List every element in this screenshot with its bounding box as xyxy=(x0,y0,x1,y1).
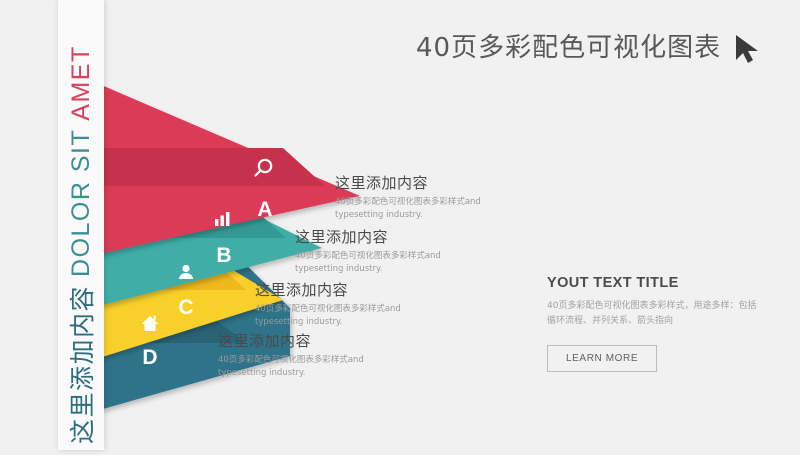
step-body-d: 40页多彩配色可视化图表多彩样式and typesetting industry… xyxy=(218,354,393,380)
step-letter-d: D xyxy=(142,346,157,369)
step-text-c: 这里添加内容 40页多彩配色可视化图表多彩样式and typesetting i… xyxy=(255,279,430,329)
step-letter-b: B xyxy=(216,244,231,267)
step-heading-c: 这里添加内容 xyxy=(255,279,430,300)
home-icon xyxy=(142,316,159,332)
step-text-d: 这里添加内容 40页多彩配色可视化图表多彩样式and typesetting i… xyxy=(218,330,393,380)
step-letter-c: C xyxy=(178,296,193,319)
panel-heading: YOUT TEXT TITLE xyxy=(547,275,762,291)
step-heading-b: 这里添加内容 xyxy=(295,226,470,247)
step-body-a: 40页多彩配色可视化图表多彩样式and typesetting industry… xyxy=(335,196,510,222)
arrow-icons-layer: A B C D xyxy=(0,0,800,450)
search-icon xyxy=(256,160,272,176)
panel-body: 40页多彩配色可视化图表多彩样式，用途多样：包括循环流程、并列关系、箭头指向 xyxy=(547,299,762,329)
right-info-panel: YOUT TEXT TITLE 40页多彩配色可视化图表多彩样式，用途多样：包括… xyxy=(547,275,762,372)
slide-canvas: 这里添加内容 DOLOR SIT AMET xyxy=(0,0,800,450)
page-title: 40页多彩配色可视化图表 xyxy=(416,27,721,64)
step-heading-d: 这里添加内容 xyxy=(218,330,393,351)
step-text-b: 这里添加内容 40页多彩配色可视化图表多彩样式and typesetting i… xyxy=(295,226,470,276)
step-letter-a: A xyxy=(257,198,272,221)
bar-chart-icon xyxy=(215,212,229,226)
mouse-pointer-cursor xyxy=(735,34,761,64)
learn-more-button[interactable]: LEARN MORE xyxy=(547,345,657,372)
step-body-c: 40页多彩配色可视化图表多彩样式and typesetting industry… xyxy=(255,303,430,329)
step-heading-a: 这里添加内容 xyxy=(335,172,510,193)
step-text-a: 这里添加内容 40页多彩配色可视化图表多彩样式and typesetting i… xyxy=(335,172,510,222)
user-icon xyxy=(179,265,193,279)
step-body-b: 40页多彩配色可视化图表多彩样式and typesetting industry… xyxy=(295,250,470,276)
